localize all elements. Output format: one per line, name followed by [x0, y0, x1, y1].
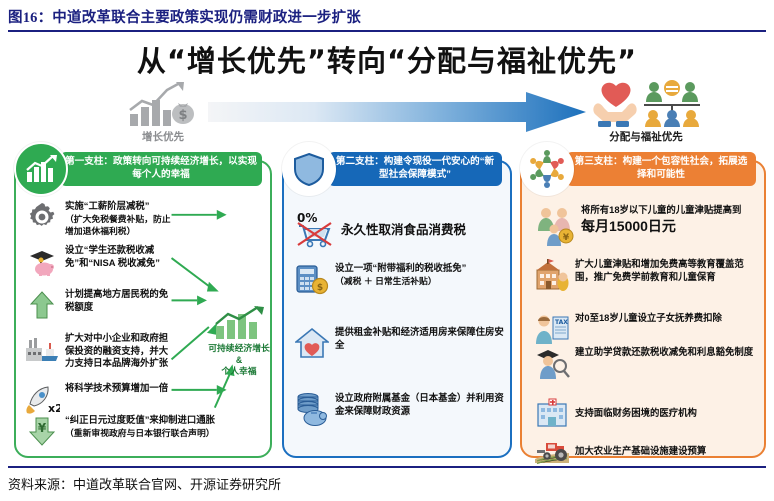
source-note: 资料来源：中道改革联合官网、开源证券研究所 [8, 474, 768, 496]
pillar-2-item-1: 0% 永久性取消食品消费税 [294, 210, 506, 250]
svg-text:¥: ¥ [38, 421, 47, 435]
svg-text:$: $ [317, 283, 323, 293]
factory-ship-icon [24, 332, 60, 366]
pillar-panel-1: 第一支柱：政策转向可持续经济增长，以实现每个人的幸福 [14, 160, 272, 458]
pillar-3-item-6: 加大农业生产基础设施建设预算 [534, 434, 758, 468]
pillar-3-item-4: 建立助学贷款还款税收减免和利息豁免制度 [534, 346, 758, 380]
growth-bar-chart-icon [24, 154, 58, 184]
pillar-panel-3: 第三支柱：构建一个包容性社会，拓展选择和可能性 [520, 160, 766, 458]
pillar-3-item-6-text: 加大农业生产基础设施建设预算 [575, 445, 706, 458]
svg-text:0%: 0% [297, 211, 317, 225]
yen-down-arrow-icon: ¥ [24, 414, 60, 448]
pillar-2-item-3-text: 提供租金补贴和经济适用房来保障住房安全 [335, 326, 504, 351]
pillar-1-item-6-text: “纠正日元过度贬值”来抑制进口通胀 [65, 414, 215, 425]
pillar-1-item-3-text: 计划提高地方居民税的免税额度 [65, 288, 174, 313]
pillar-1-item-5-text: 将科学技术预算增加一倍 [65, 382, 168, 395]
up-arrow-green-icon [24, 288, 60, 322]
pillar-3-header: 第三支柱：构建一个包容性社会，拓展选择和可能性 [566, 152, 756, 186]
pillar-2-item-4-text: 设立政府附属基金（日本基金）并利用资金来保障财政资源 [335, 392, 506, 417]
pillar-2-item-4: 设立政府附属基金（日本基金）并利用资金来保障财政资源 [294, 392, 506, 426]
gear-icon [24, 200, 60, 234]
pillar-3-item-4-text: 建立助学贷款还款税收减免和利息豁免制度 [575, 346, 753, 359]
pillar-1-item-4: 扩大对中小企业和政府担保投资的融资支持，并大力支持日本品牌海外扩张 [24, 332, 176, 370]
tax-form-person-icon: TAX [534, 312, 570, 346]
pillar-3-item-2-text: 扩大儿童津贴和增加免费高等教育覆盖范围，推广免费学前教育和儿童保育 [575, 258, 760, 283]
transition-to-label: 分配与福祉优先 [586, 129, 706, 144]
pillar-1-outcome-label: 可持续经济增长 & 个人幸福 [200, 343, 278, 377]
transition-from-label: 增长优先 [120, 129, 206, 144]
pillar-3-item-1: ¥ 将所有18岁以下儿童的儿童津贴提高到 每月15000日元 [534, 204, 758, 248]
pillar-panel-2: 第二支柱：构建令现役一代安心的“新型社会保障模式” 0% [282, 160, 512, 458]
pillar-3-item-5: 支持面临财务困境的医疗机构 [534, 396, 758, 430]
pillar-3-item-1-highlight: 每月15000日元 [581, 218, 676, 234]
hands-heart-people-icon [586, 80, 706, 128]
svg-text:x2: x2 [48, 402, 60, 414]
pillar-1-item-6-sub: （重新审视政府与日本银行联合声明） [65, 428, 215, 438]
pillar-2-item-2: $ 设立一项“附带福利的税收抵免” （减税 ＋ 日常生活补贴） [294, 262, 508, 296]
transition-arrow [208, 92, 586, 132]
pillar-1-item-1: 实施“工薪阶层减税” （扩大免税餐费补贴，防止增加退休福利税） [24, 200, 174, 238]
graduation-piggybank-icon [24, 244, 60, 278]
pillar-1-outcome: 可持续经济增长 & 个人幸福 [200, 306, 278, 378]
headline: 从“增长优先”转向“分配与福祉优先” [0, 38, 774, 76]
pillar-1-item-5: x2 将科学技术预算增加一倍 [24, 382, 174, 416]
pillar-1-badge [14, 142, 68, 196]
pillar-3-items: ¥ 将所有18岁以下儿童的儿童津贴提高到 每月15000日元 [528, 196, 758, 452]
pillar-3-item-2: 扩大儿童津贴和增加免费高等教育覆盖范围，推广免费学前教育和儿童保育 [534, 258, 760, 292]
pillar-3-item-5-text: 支持面临财务困境的医疗机构 [575, 407, 697, 420]
growth-chart-moneybag-icon: $ [120, 80, 206, 128]
figure-title: 图16：中道改革联合主要政策实现仍需财政进一步扩张 [8, 6, 768, 28]
pillar-1-item-4-text: 扩大对中小企业和政府担保投资的融资支持，并大力支持日本品牌海外扩张 [65, 332, 176, 370]
pillar-1-item-1-text: 实施“工薪阶层减税” [65, 200, 149, 211]
pillar-1-item-6: ¥ “纠正日元过度贬值”来抑制进口通胀 （重新审视政府与日本银行联合声明） [24, 414, 250, 448]
pillar-2-item-2-sub: （减税 ＋ 日常生活补贴） [335, 276, 437, 286]
school-baby-icon [534, 258, 570, 292]
pillar-1-item-1-sub: （扩大免税餐费补贴，防止增加退休福利税） [65, 214, 171, 237]
pillar-1-item-2: 设立“学生还款税收减免”和“NISA 税收减免” [24, 244, 174, 278]
cart-zero-percent-icon: 0% [294, 210, 336, 250]
svg-text:¥: ¥ [563, 233, 570, 243]
divider-bottom [8, 466, 766, 468]
transition-to: 分配与福祉优先 [586, 80, 706, 142]
pillar-2-header: 第二支柱：构建令现役一代安心的“新型社会保障模式” [328, 152, 502, 186]
right-arrow-gradient-icon [208, 92, 586, 132]
pillar-3-item-1-text: 将所有18岁以下儿童的儿童津贴提高到 [581, 204, 741, 215]
calculator-coin-icon: $ [294, 262, 330, 296]
pillar-2-item-1-text: 永久性取消食品消费税 [341, 222, 466, 239]
graduate-loan-icon [534, 346, 570, 380]
diversity-circle-people-icon [528, 150, 566, 188]
svg-text:$: $ [178, 108, 187, 123]
tractor-farm-icon [534, 434, 570, 468]
pillar-2-item-2-text: 设立一项“附带福利的税收抵免” [335, 262, 466, 273]
pillar-3-badge [520, 142, 574, 196]
infographic-root: 图16：中道改革联合主要政策实现仍需财政进一步扩张 从“增长优先”转向“分配与福… [0, 0, 774, 501]
pillar-2-item-3: 提供租金补贴和经济适用房来保障住房安全 [294, 326, 504, 360]
transition-band: $ 增长优先 [0, 80, 774, 142]
rocket-x2-icon: x2 [24, 382, 60, 416]
pillar-2-items: 0% 永久性取消食品消费税 [290, 196, 504, 452]
divider-top [8, 30, 766, 32]
pillar-3-item-3: TAX 对0至18岁儿童设立子女抚养费扣除 [534, 312, 758, 346]
transition-from: $ 增长优先 [120, 80, 206, 142]
shield-icon [293, 152, 325, 186]
pillar-3-item-3-text: 对0至18岁儿童设立子女抚养费扣除 [575, 312, 722, 325]
pillar-1-header: 第一支柱：政策转向可持续经济增长，以实现每个人的幸福 [60, 152, 262, 186]
pillar-1-item-3: 计划提高地方居民税的免税额度 [24, 288, 174, 322]
coins-piggybank-icon [294, 392, 330, 426]
svg-text:TAX: TAX [555, 319, 568, 326]
house-heart-icon [294, 326, 330, 360]
pillar-1-item-2-text: 设立“学生还款税收减免”和“NISA 税收减免” [65, 244, 174, 269]
family-yen-icon: ¥ [534, 204, 576, 248]
hospital-icon [534, 396, 570, 430]
green-growth-chart-icon [208, 306, 270, 340]
pillar-1-items: 实施“工薪阶层减税” （扩大免税餐费补贴，防止增加退休福利税） [22, 196, 264, 452]
pillar-2-badge [282, 142, 336, 196]
